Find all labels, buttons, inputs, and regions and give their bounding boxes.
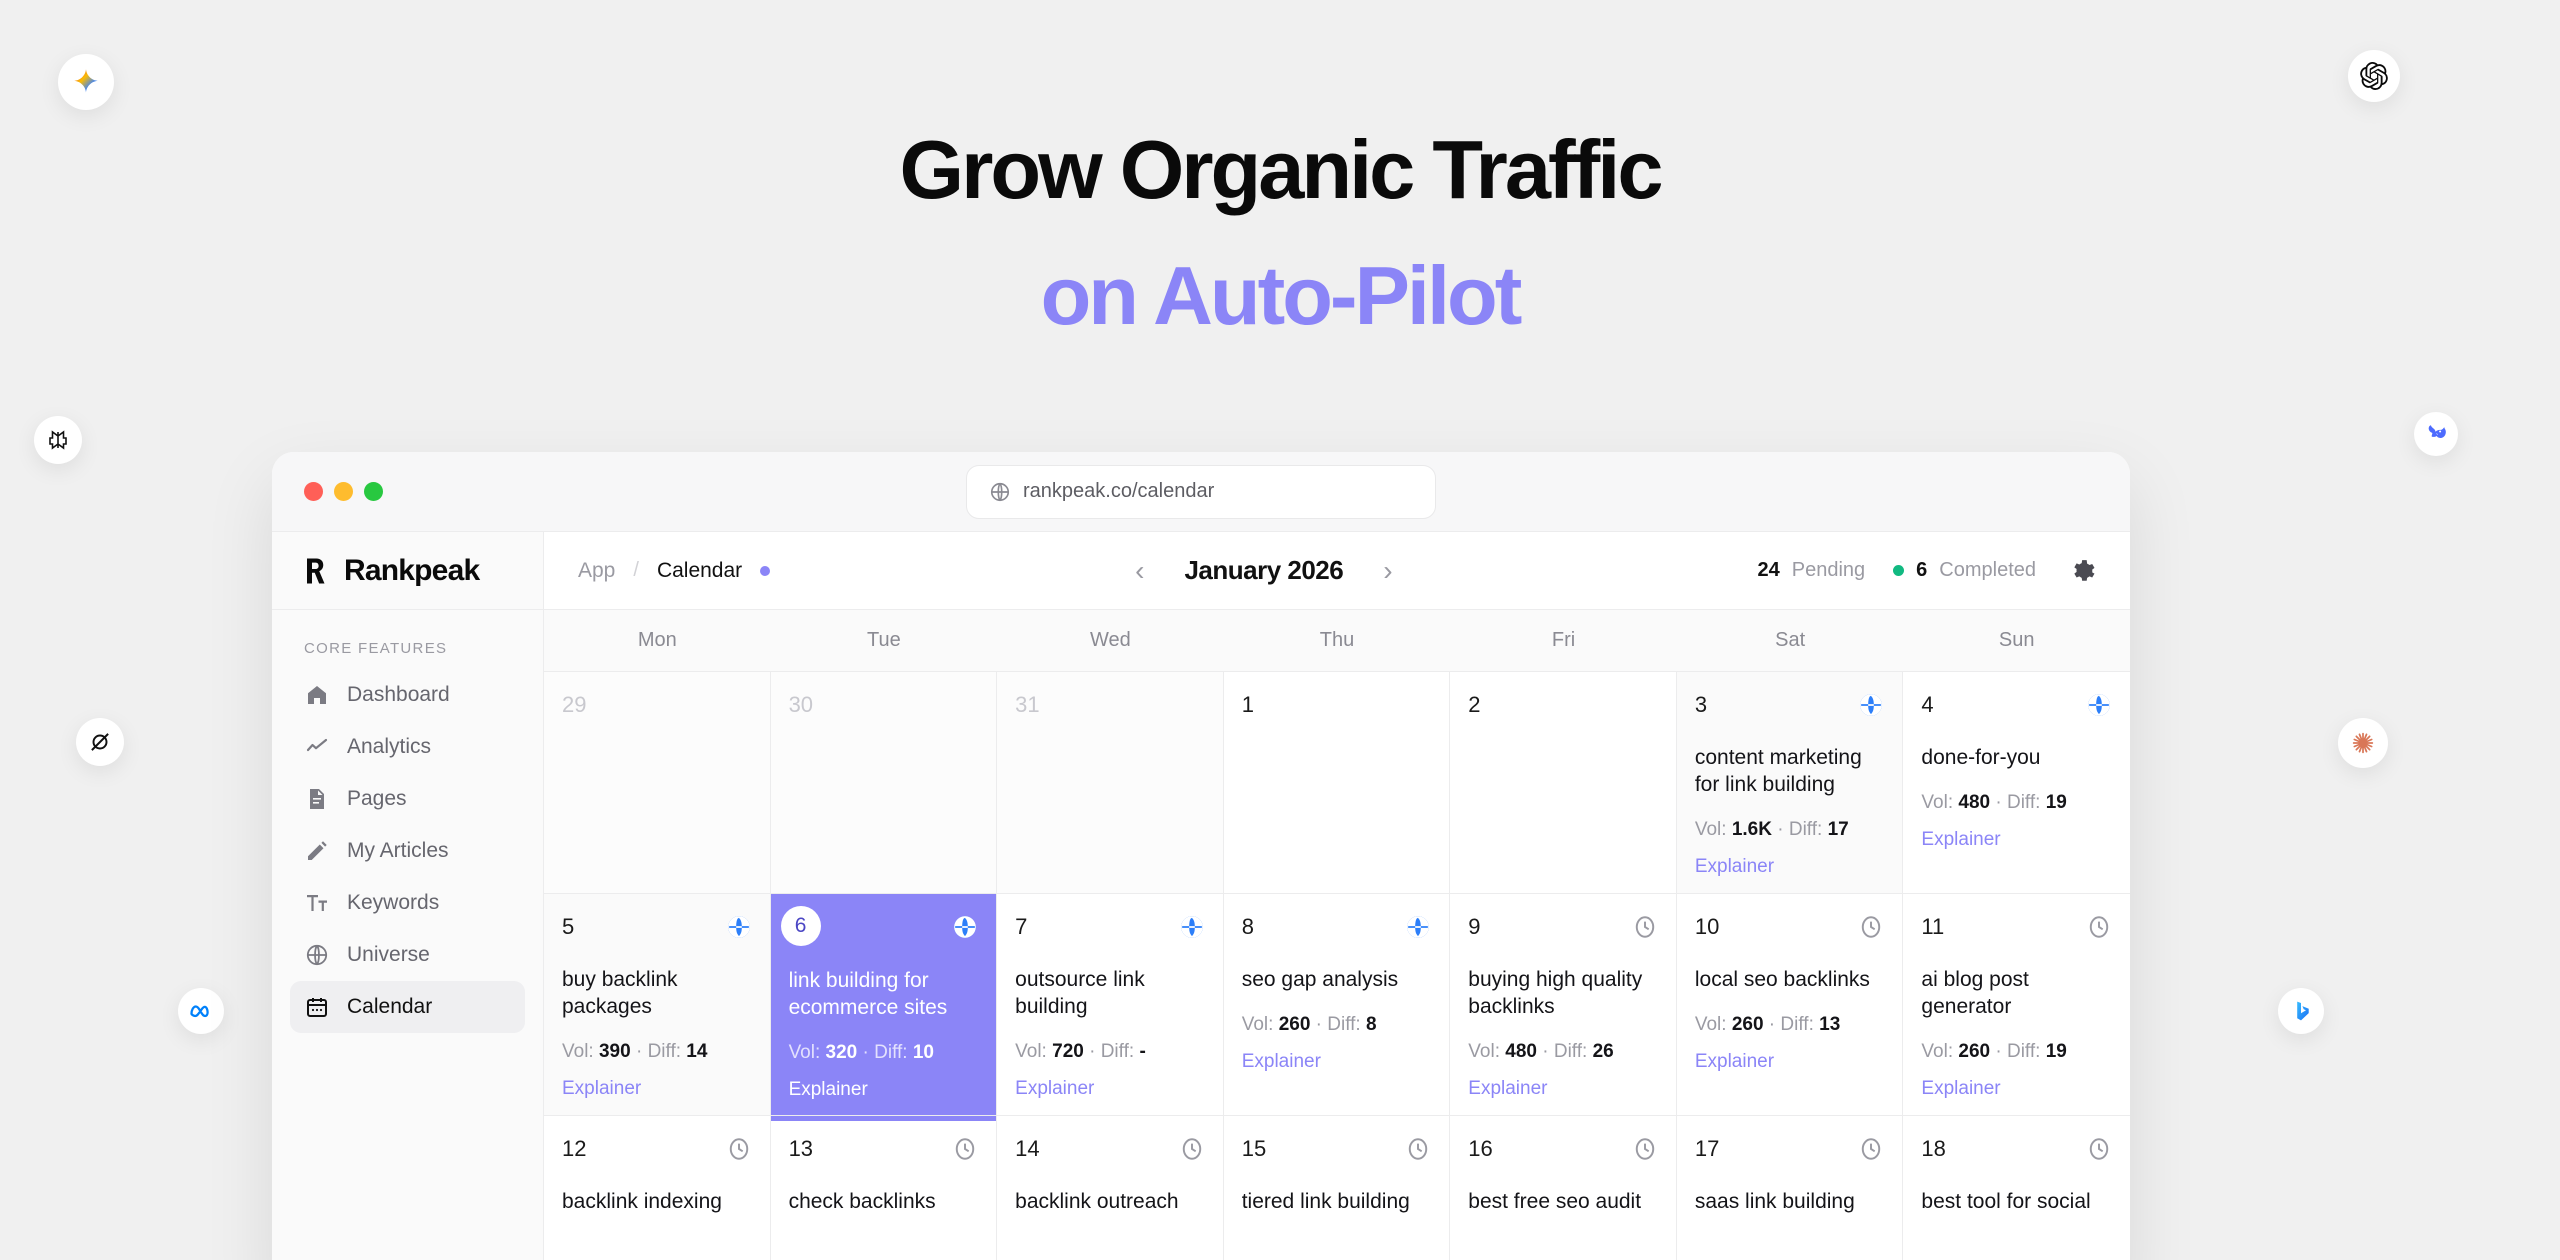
day-number: 30 — [789, 692, 813, 718]
globe-icon-wrapper[interactable] — [952, 914, 978, 945]
calendar-day-cell[interactable]: 17saas link building — [1677, 1116, 1904, 1260]
day-number: 12 — [562, 1136, 586, 1162]
calendar-day-cell[interactable]: 5buy backlink packagesVol: 390 · Diff: 1… — [544, 894, 771, 1115]
keyword-title: link building for ecommerce sites — [789, 968, 979, 1022]
calendar-day-cell[interactable]: 16best free seo audit — [1450, 1116, 1677, 1260]
calendar-day-cell[interactable]: 18best tool for social — [1903, 1116, 2130, 1260]
perplexity-logo-bubble — [34, 416, 82, 464]
clock-icon — [1858, 1136, 1884, 1162]
clock-icon-wrapper[interactable] — [1858, 914, 1884, 945]
keyword-title: backlink indexing — [562, 1189, 752, 1216]
text-size-icon — [304, 890, 330, 916]
bing-logo-bubble — [2278, 988, 2324, 1034]
calendar-week-row: 293031123content marketing for link buil… — [544, 672, 2130, 894]
clock-icon — [1632, 1136, 1658, 1162]
current-month-label: January 2026 — [1184, 555, 1343, 586]
keyword-title: buying high quality backlinks — [1468, 967, 1658, 1021]
clock-icon — [1179, 1136, 1205, 1162]
calendar-day-cell[interactable]: 10local seo backlinksVol: 260 · Diff: 13… — [1677, 894, 1904, 1115]
calendar-icon — [304, 994, 330, 1020]
document-icon — [304, 786, 330, 812]
calendar-day-cell[interactable]: 1 — [1224, 672, 1451, 893]
day-number: 6 — [781, 906, 821, 946]
volume-value: 480 — [1958, 792, 1990, 813]
settings-button[interactable] — [2070, 558, 2096, 584]
keyword-metrics: Vol: 480 · Diff: 26 — [1468, 1041, 1658, 1063]
difficulty-value: 17 — [1828, 819, 1849, 840]
sidebar-item-dashboard[interactable]: Dashboard — [290, 669, 525, 721]
calendar-day-cell[interactable]: 8seo gap analysisVol: 260 · Diff: 8Expla… — [1224, 894, 1451, 1115]
clock-icon — [726, 1136, 752, 1162]
keyword-metrics: Vol: 480 · Diff: 19 — [1921, 792, 2112, 814]
keyword-title: check backlinks — [789, 1189, 979, 1216]
day-number: 7 — [1015, 914, 1027, 940]
sidebar-item-my-articles[interactable]: My Articles — [290, 825, 525, 877]
gemini-icon — [72, 68, 100, 96]
calendar-day-cell[interactable]: 2 — [1450, 672, 1677, 893]
clock-icon-wrapper[interactable] — [726, 1136, 752, 1167]
keyword-title: local seo backlinks — [1695, 967, 1885, 994]
breadcrumb-separator: / — [633, 559, 639, 582]
sidebar-item-pages[interactable]: Pages — [290, 773, 525, 825]
month-navigation: ‹ January 2026 › — [1135, 555, 1392, 586]
keyword-title: done-for-you — [1921, 745, 2112, 772]
calendar-week-row: 12backlink indexing13check backlinks14ba… — [544, 1116, 2130, 1260]
breadcrumb-calendar[interactable]: Calendar — [657, 559, 742, 583]
app-body: Rankpeak CORE FEATURES Dashboard Analyti… — [272, 532, 2130, 1260]
sidebar-item-label: Analytics — [347, 735, 431, 759]
content-type-tag[interactable]: Explainer — [1015, 1078, 1205, 1100]
day-number: 8 — [1242, 914, 1254, 940]
calendar-grid: 293031123content marketing for link buil… — [544, 672, 2130, 1260]
gear-icon — [2070, 558, 2096, 584]
day-number: 16 — [1468, 1136, 1492, 1162]
globe-icon — [726, 914, 752, 940]
volume-value: 260 — [1958, 1041, 1990, 1062]
sidebar-item-label: Calendar — [347, 995, 432, 1019]
volume-value: 1.6K — [1732, 819, 1772, 840]
openai-logo-bubble — [2348, 50, 2400, 102]
sidebar-item-label: My Articles — [347, 839, 449, 863]
brand[interactable]: Rankpeak — [272, 532, 543, 610]
calendar-day-cell[interactable]: 31 — [997, 672, 1224, 893]
calendar-day-cell[interactable]: 30 — [771, 672, 998, 893]
gemini-logo-bubble — [58, 54, 114, 110]
breadcrumb-status-dot — [760, 566, 770, 576]
difficulty-value: 19 — [2046, 792, 2067, 813]
day-number: 3 — [1695, 692, 1707, 718]
nova-logo-bubble — [76, 718, 124, 766]
globe-icon-wrapper[interactable] — [1179, 914, 1205, 945]
pencil-icon — [304, 838, 330, 864]
day-number: 15 — [1242, 1136, 1266, 1162]
difficulty-value: 8 — [1366, 1014, 1377, 1035]
globe-icon — [1179, 914, 1205, 940]
sidebar-section-label: CORE FEATURES — [272, 610, 543, 669]
day-number: 29 — [562, 692, 586, 718]
calendar-day-cell[interactable]: 6link building for ecommerce sitesVol: 3… — [771, 894, 998, 1115]
keyword-title: buy backlink packages — [562, 967, 752, 1021]
clock-icon — [1858, 914, 1884, 940]
content-type-tag[interactable]: Explainer — [1921, 1078, 2112, 1100]
clock-icon — [1405, 1136, 1431, 1162]
page-subtitle: on Auto-Pilot — [0, 254, 2560, 337]
content-type-tag[interactable]: Explainer — [562, 1078, 752, 1100]
completed-count: 6 — [1916, 559, 1927, 582]
clock-icon — [1632, 914, 1658, 940]
difficulty-value: - — [1139, 1041, 1145, 1062]
browser-window: rankpeak.co/calendar Rankpeak CORE FEATU… — [272, 452, 2130, 1260]
status-summary: 24 Pending 6 Completed — [1758, 558, 2097, 584]
prev-month-button[interactable]: ‹ — [1135, 557, 1144, 585]
difficulty-value: 14 — [686, 1041, 707, 1062]
weekday-sat: Sat — [1677, 610, 1904, 671]
calendar-day-cell[interactable]: 7outsource link buildingVol: 720 · Diff:… — [997, 894, 1224, 1115]
window-controls[interactable] — [304, 482, 383, 501]
day-number: 9 — [1468, 914, 1480, 940]
difficulty-value: 26 — [1593, 1041, 1614, 1062]
globe-icon — [2086, 692, 2112, 718]
globe-icon — [1858, 692, 1884, 718]
bing-icon — [2289, 999, 2313, 1023]
sidebar-item-label: Dashboard — [347, 683, 450, 707]
content-type-tag[interactable]: Explainer — [1468, 1078, 1658, 1100]
clock-icon-wrapper[interactable] — [1632, 1136, 1658, 1167]
calendar-day-cell[interactable]: 9buying high quality backlinksVol: 480 ·… — [1450, 894, 1677, 1115]
day-number: 31 — [1015, 692, 1039, 718]
keyword-title: best tool for social — [1921, 1189, 2112, 1216]
calendar-day-cell[interactable]: 29 — [544, 672, 771, 893]
perplexity-icon — [46, 428, 70, 452]
hero: Grow Organic Traffic on Auto-Pilot — [0, 128, 2560, 337]
content-type-tag[interactable]: Explainer — [1242, 1051, 1432, 1073]
content-type-tag[interactable]: Explainer — [1695, 856, 1885, 878]
keyword-metrics: Vol: 260 · Diff: 19 — [1921, 1041, 2112, 1063]
volume-value: 260 — [1279, 1014, 1311, 1035]
keyword-title: best free seo audit — [1468, 1189, 1658, 1216]
clock-icon-wrapper[interactable] — [1405, 1136, 1431, 1167]
sidebar-item-universe[interactable]: Universe — [290, 929, 525, 981]
keyword-title: ai blog post generator — [1921, 967, 2112, 1021]
url-text: rankpeak.co/calendar — [1023, 480, 1214, 503]
clock-icon-wrapper[interactable] — [2086, 914, 2112, 945]
sidebar-item-label: Pages — [347, 787, 407, 811]
clock-icon — [2086, 1136, 2112, 1162]
pending-count: 24 — [1758, 559, 1780, 582]
day-number: 4 — [1921, 692, 1933, 718]
content-type-tag[interactable]: Explainer — [1921, 829, 2112, 851]
day-number: 17 — [1695, 1136, 1719, 1162]
weekday-mon: Mon — [544, 610, 771, 671]
day-number: 14 — [1015, 1136, 1039, 1162]
sidebar-item-analytics[interactable]: Analytics — [290, 721, 525, 773]
pending-label: Pending — [1792, 559, 1865, 582]
volume-value: 720 — [1052, 1041, 1084, 1062]
calendar-day-cell[interactable]: 15tiered link building — [1224, 1116, 1451, 1260]
next-month-button[interactable]: › — [1383, 557, 1392, 585]
difficulty-value: 19 — [2046, 1041, 2067, 1062]
completed-status-dot — [1893, 565, 1904, 576]
day-number: 11 — [1921, 914, 1944, 940]
day-number: 2 — [1468, 692, 1480, 718]
completed-label: Completed — [1939, 559, 2036, 582]
keyword-metrics: Vol: 1.6K · Diff: 17 — [1695, 819, 1885, 841]
volume-value: 320 — [826, 1042, 858, 1063]
keyword-metrics: Vol: 260 · Diff: 13 — [1695, 1014, 1885, 1036]
globe-icon-wrapper[interactable] — [2086, 692, 2112, 723]
day-number: 18 — [1921, 1136, 1945, 1162]
calendar-day-cell[interactable]: 13check backlinks — [771, 1116, 998, 1260]
day-number: 5 — [562, 914, 574, 940]
meta-icon — [188, 998, 214, 1024]
day-number: 10 — [1695, 914, 1719, 940]
calendar-day-cell[interactable]: 14backlink outreach — [997, 1116, 1224, 1260]
browser-titlebar: rankpeak.co/calendar — [272, 452, 2130, 532]
keyword-metrics: Vol: 390 · Diff: 14 — [562, 1041, 752, 1063]
clock-icon — [952, 1136, 978, 1162]
keyword-metrics: Vol: 320 · Diff: 10 — [789, 1042, 979, 1064]
clock-icon-wrapper[interactable] — [1858, 1136, 1884, 1167]
globe-icon — [1405, 914, 1431, 940]
weekday-thu: Thu — [1224, 610, 1451, 671]
close-button[interactable] — [304, 482, 323, 501]
volume-value: 260 — [1732, 1014, 1764, 1035]
maximize-button[interactable] — [364, 482, 383, 501]
keyword-title: tiered link building — [1242, 1189, 1432, 1216]
keyword-title: outsource link building — [1015, 967, 1205, 1021]
openai-icon — [2360, 62, 2388, 90]
calendar-day-cell[interactable]: 3content marketing for link buildingVol:… — [1677, 672, 1904, 893]
keyword-metrics: Vol: 720 · Diff: - — [1015, 1041, 1205, 1063]
sidebar-item-calendar[interactable]: Calendar — [290, 981, 525, 1033]
globe-icon — [952, 914, 978, 940]
clock-icon-wrapper[interactable] — [1632, 914, 1658, 945]
address-bar[interactable]: rankpeak.co/calendar — [966, 465, 1436, 519]
calendar-day-cell[interactable]: 12backlink indexing — [544, 1116, 771, 1260]
page-title: Grow Organic Traffic — [0, 128, 2560, 211]
globe-icon — [989, 481, 1011, 503]
keyword-title: backlink outreach — [1015, 1189, 1205, 1216]
nova-icon — [87, 729, 113, 755]
rankpeak-logo-icon — [302, 556, 332, 586]
keyword-title: seo gap analysis — [1242, 967, 1432, 994]
claude-icon — [2349, 729, 2377, 757]
keyword-title: saas link building — [1695, 1189, 1885, 1216]
keyword-metrics: Vol: 260 · Diff: 8 — [1242, 1014, 1432, 1036]
calendar-day-cell[interactable]: 11ai blog post generatorVol: 260 · Diff:… — [1903, 894, 2130, 1115]
weekday-wed: Wed — [997, 610, 1224, 671]
difficulty-value: 13 — [1819, 1014, 1840, 1035]
weekday-tue: Tue — [771, 610, 998, 671]
sidebar: Rankpeak CORE FEATURES Dashboard Analyti… — [272, 532, 544, 1260]
volume-value: 390 — [599, 1041, 631, 1062]
minimize-button[interactable] — [334, 482, 353, 501]
clock-icon-wrapper[interactable] — [1179, 1136, 1205, 1167]
deepseek-logo-bubble — [2414, 412, 2458, 456]
selected-column-accent — [771, 1116, 997, 1121]
toolbar: App / Calendar ‹ January 2026 › 24 Pendi… — [544, 532, 2130, 610]
calendar-week-row: 5buy backlink packagesVol: 390 · Diff: 1… — [544, 894, 2130, 1116]
weekday-fri: Fri — [1450, 610, 1677, 671]
weekday-sun: Sun — [1903, 610, 2130, 671]
meta-logo-bubble — [178, 988, 224, 1034]
keyword-title: content marketing for link building — [1695, 745, 1885, 799]
clock-icon-wrapper[interactable] — [2086, 1136, 2112, 1167]
sidebar-item-label: Universe — [347, 943, 430, 967]
day-number: 1 — [1242, 692, 1254, 718]
difficulty-value: 10 — [913, 1042, 934, 1063]
content-type-tag[interactable]: Explainer — [789, 1079, 979, 1101]
deepseek-icon — [2424, 422, 2448, 446]
home-icon — [304, 682, 330, 708]
day-number: 13 — [789, 1136, 813, 1162]
globe-icon — [304, 942, 330, 968]
volume-value: 480 — [1505, 1041, 1537, 1062]
chart-line-icon — [304, 734, 330, 760]
calendar-day-cell[interactable]: 4done-for-youVol: 480 · Diff: 19Explaine… — [1903, 672, 2130, 893]
clock-icon — [2086, 914, 2112, 940]
sidebar-item-label: Keywords — [347, 891, 439, 915]
globe-icon-wrapper[interactable] — [1858, 692, 1884, 723]
main-content: App / Calendar ‹ January 2026 › 24 Pendi… — [544, 532, 2130, 1260]
sidebar-item-keywords[interactable]: Keywords — [290, 877, 525, 929]
weekday-header-row: Mon Tue Wed Thu Fri Sat Sun — [544, 610, 2130, 672]
breadcrumb-app[interactable]: App — [578, 559, 615, 583]
brand-name: Rankpeak — [344, 554, 479, 588]
content-type-tag[interactable]: Explainer — [1695, 1051, 1885, 1073]
claude-logo-bubble — [2338, 718, 2388, 768]
globe-icon-wrapper[interactable] — [1405, 914, 1431, 945]
globe-icon-wrapper[interactable] — [726, 914, 752, 945]
clock-icon-wrapper[interactable] — [952, 1136, 978, 1167]
